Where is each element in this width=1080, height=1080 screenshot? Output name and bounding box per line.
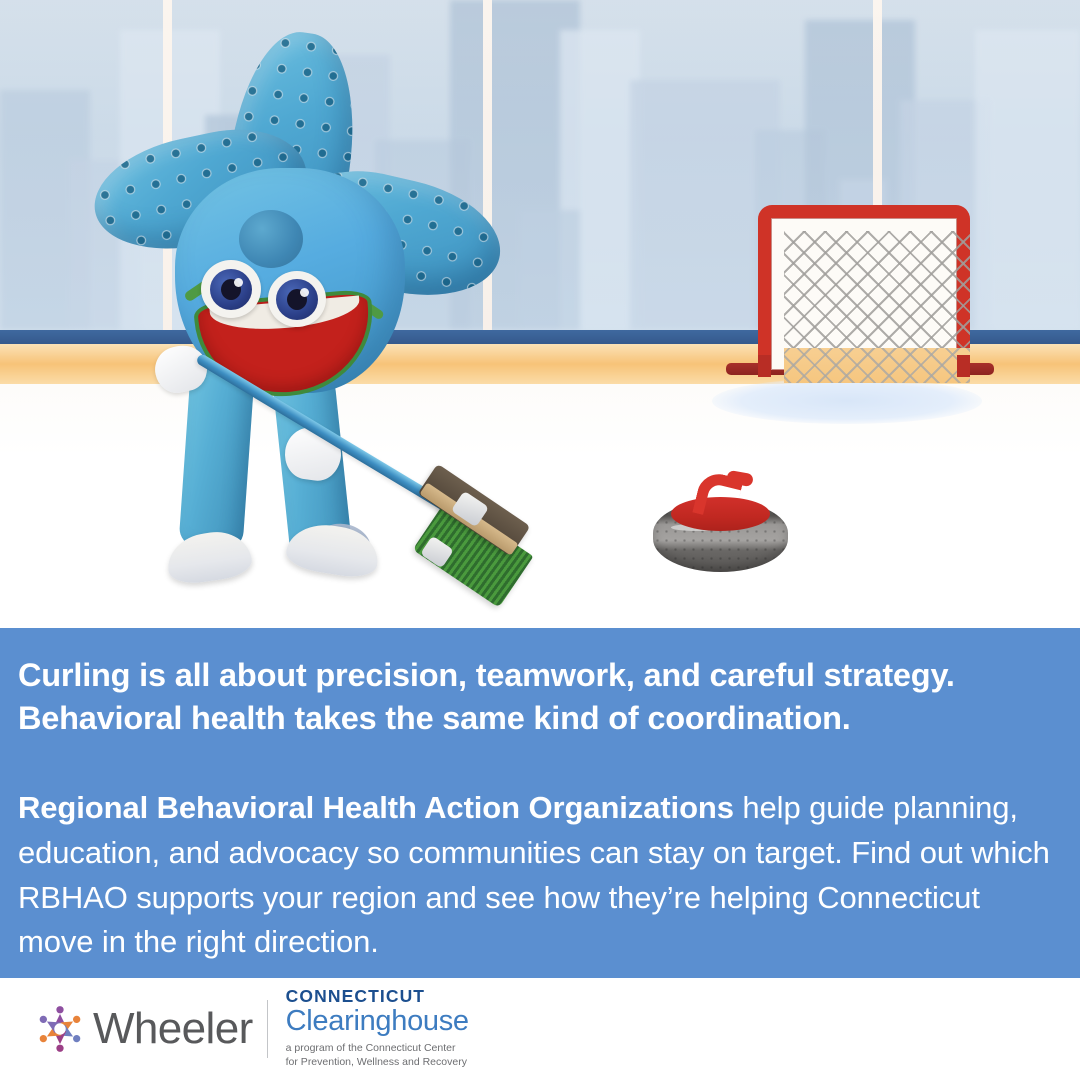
message-panel: Curling is all about precision, teamwork… <box>0 628 1080 978</box>
goal-post-left <box>758 355 771 377</box>
mascot-nose <box>239 210 303 268</box>
clearinghouse-tagline-line-2: for Prevention, Wellness and Recovery <box>286 1056 469 1070</box>
goal-post-right <box>957 355 970 377</box>
goal-net-lower-mesh <box>784 348 970 383</box>
wheeler-logo-lockup[interactable]: Wheeler <box>34 1003 253 1055</box>
goal-frame <box>758 205 970 370</box>
clearinghouse-tagline-line-1: a program of the Connecticut Center <box>286 1042 469 1056</box>
body-copy-bold-lead: Regional Behavioral Health Action Organi… <box>18 790 734 825</box>
mascot-eye-right <box>268 271 326 327</box>
clearinghouse-wordmark: Clearinghouse <box>286 1007 469 1036</box>
headline-line-1: Curling is all about precision, teamwork… <box>18 657 955 693</box>
mascot-eye-left <box>201 260 261 318</box>
connecticut-clearinghouse-logo[interactable]: CONNECTICUT Clearinghouse a program of t… <box>286 988 469 1069</box>
headline-line-2: Behavioral health takes the same kind of… <box>18 697 1056 740</box>
clearinghouse-tagline: a program of the Connecticut Center for … <box>286 1042 469 1070</box>
star-people-icon <box>34 1003 86 1055</box>
social-graphic-poster: Curling is all about precision, teamwork… <box>0 0 1080 1080</box>
mascot-eye-glint-right <box>300 288 309 297</box>
rink-scene-image <box>0 0 1080 628</box>
clearinghouse-connecticut-word: CONNECTICUT <box>286 988 469 1006</box>
body-copy: Regional Behavioral Health Action Organi… <box>18 786 1056 965</box>
wheeler-wordmark: Wheeler <box>93 1007 253 1051</box>
footer-logo-bar: Wheeler CONNECTICUT Clearinghouse a prog… <box>0 978 1080 1080</box>
headline: Curling is all about precision, teamwork… <box>18 654 1056 740</box>
curling-stone <box>653 472 788 572</box>
logo-divider <box>267 1000 268 1058</box>
mascot-iris-left <box>210 269 252 310</box>
mascot-iris-right <box>276 279 318 320</box>
mascot-star-body <box>55 28 505 428</box>
mascot-eye-glint-left <box>234 278 243 287</box>
goal-crease-shadow <box>712 378 982 424</box>
hockey-goal <box>758 205 970 380</box>
